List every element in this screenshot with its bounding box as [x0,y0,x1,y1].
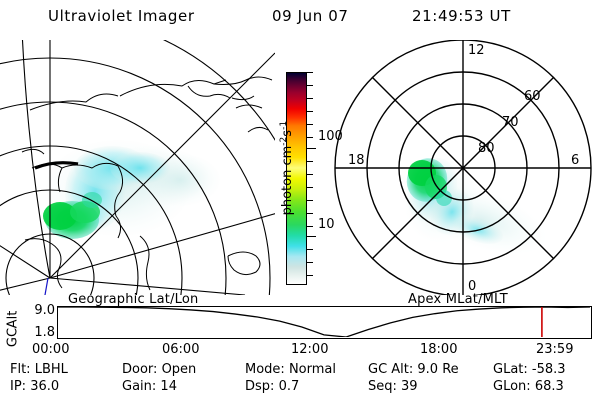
geographic-image-panel[interactable] [0,40,275,295]
status-gain-value: 14 [160,379,177,394]
status-gain: Gain: 14 [122,379,177,394]
mlat-label-70: 70 [502,115,519,130]
geographic-aurora-emission [43,140,220,239]
altitude-ylabel-line2: GC [6,316,21,360]
mlt-spokes [335,40,591,295]
orbit-track-line [42,278,48,295]
status-ip: IP: 36.0 [10,379,59,394]
status-dsp-label: Dsp: [245,379,274,394]
altitude-plot-box[interactable] [57,306,592,339]
altitude-xtick-0: 00:00 [32,342,69,357]
mlat-label-60: 60 [524,89,541,104]
header-bar: Ultraviolet Imager 09 Jun 07 21:49:53 UT [0,4,600,28]
status-gc-alt: GC Alt: 9.0 Re [368,362,459,377]
mlt-label-6: 6 [571,153,579,168]
mlat-label-80: 80 [478,141,495,156]
observation-time: 21:49:53 UT [412,7,511,25]
altitude-strip[interactable]: Alt GC 9.0 1.8 00:00 06:00 12:00 18:00 2… [0,300,600,356]
altitude-xtick-1: 06:00 [162,342,199,357]
status-glat: GLat: -58.3 [493,362,566,377]
instrument-title: Ultraviolet Imager [48,7,195,25]
status-flt-value: LBHL [35,362,68,377]
geographic-plot-svg [0,40,275,295]
status-glon: GLon: 68.3 [493,379,564,394]
colorbar-axis-title-s: s [280,130,295,137]
observation-date: 09 Jun 07 [272,7,349,25]
status-gain-label: Gain: [122,379,156,394]
apex-mlat-mlt-panel[interactable]: 12 6 0 18 60 70 80 [332,40,600,295]
altitude-ytick-top: 9.0 [25,303,55,318]
status-seq: Seq: 39 [368,379,418,394]
status-door-value: Open [162,362,197,377]
status-glat-value: -58.3 [532,362,566,377]
status-ip-label: IP: [10,379,26,394]
altitude-track-line [58,307,590,337]
altitude-xtick-4: 23:59 [536,342,573,357]
status-glon-value: 68.3 [535,379,564,394]
colorbar-axis-title: photon cm-2s-1 [279,84,295,252]
status-door: Door: Open [122,362,196,377]
status-dsp-value: 0.7 [279,379,300,394]
status-mode-label: Mode: [245,362,285,377]
altitude-track-svg [58,307,590,337]
status-seq-label: Seq: [368,379,397,394]
status-door-label: Door: [122,362,157,377]
colorbar-exponent-1: -2 [279,137,289,146]
status-dsp: Dsp: 0.7 [245,379,299,394]
status-footer: Flt: LBHL Door: Open Mode: Normal GC Alt… [0,362,600,400]
status-gc-alt-label: GC Alt: [368,362,413,377]
mlt-label-12: 12 [468,43,485,58]
status-seq-value: 39 [401,379,418,394]
apex-dial-svg: 12 6 0 18 60 70 80 [332,40,600,295]
uvi-display-root: Ultraviolet Imager 09 Jun 07 21:49:53 UT [0,0,600,400]
status-flt: Flt: LBHL [10,362,68,377]
colorbar: 100 10 photon cm-2s-1 [262,60,332,300]
altitude-ytick-bottom: 1.8 [25,325,55,340]
status-glat-label: GLat: [493,362,528,377]
colorbar-exponent-2: -1 [279,121,289,130]
status-flt-label: Flt: [10,362,31,377]
mlat-label-group: 60 70 80 [478,89,541,156]
status-mode-value: Normal [289,362,336,377]
altitude-xtick-3: 18:00 [420,342,457,357]
mlt-label-18: 18 [348,153,365,168]
altitude-xtick-2: 12:00 [291,342,328,357]
colorbar-ticks [307,72,316,285]
status-gc-alt-value: 9.0 Re [417,362,458,377]
colorbar-axis-title-text: photon cm [280,146,295,216]
status-ip-value: 36.0 [30,379,59,394]
status-glon-label: GLon: [493,379,531,394]
status-mode: Mode: Normal [245,362,336,377]
